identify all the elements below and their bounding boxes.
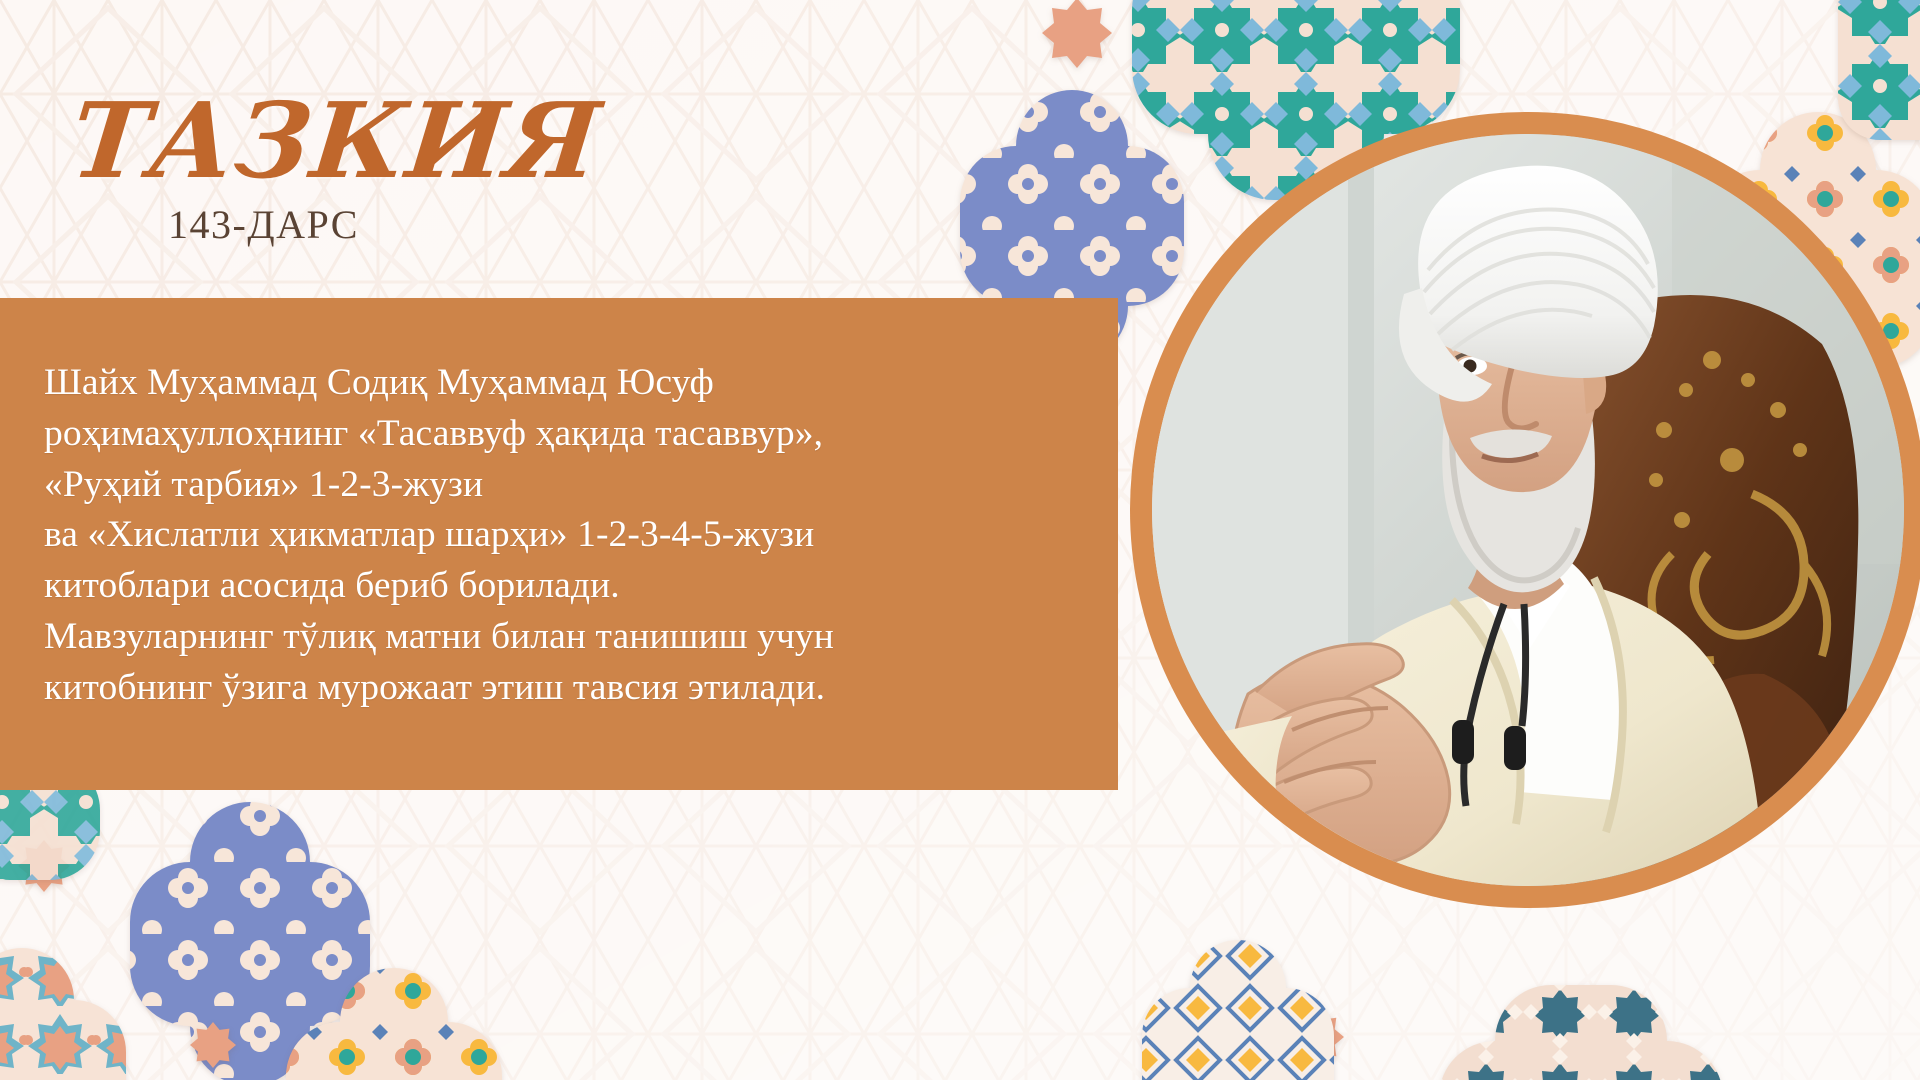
decor-tile-diamond-underleft (1120, 930, 1360, 1080)
description-text: Шайх Муҳаммад Содиқ Муҳаммад Юсуф роҳима… (44, 358, 1078, 714)
decor-tile-slate-bottomright (1375, 975, 1795, 1080)
brand-logo: ТАЗКИЯ 143-ДАРС (72, 92, 600, 245)
logo-subtitle: 143-ДАРС (168, 205, 600, 245)
portrait-ring (1130, 112, 1920, 908)
description-panel: Шайх Муҳаммад Содиқ Муҳаммад Юсуф роҳима… (0, 298, 1118, 790)
decor-tile-salmon-bottomleft (0, 938, 160, 1080)
decor-star-salmon-bottomcenter (190, 1022, 236, 1068)
poster-canvas: Шайх Муҳаммад Содиқ Муҳаммад Юсуф роҳима… (0, 0, 1920, 1080)
portrait-illustration (1152, 134, 1904, 886)
decor-star-salmon-top (1042, 0, 1112, 68)
portrait-image (1152, 134, 1904, 886)
decor-tile-blue-topright (1838, 0, 1920, 140)
logo-title: ТАЗКИЯ (67, 92, 605, 191)
decor-tile-pastel-bottomcenter (248, 958, 548, 1080)
